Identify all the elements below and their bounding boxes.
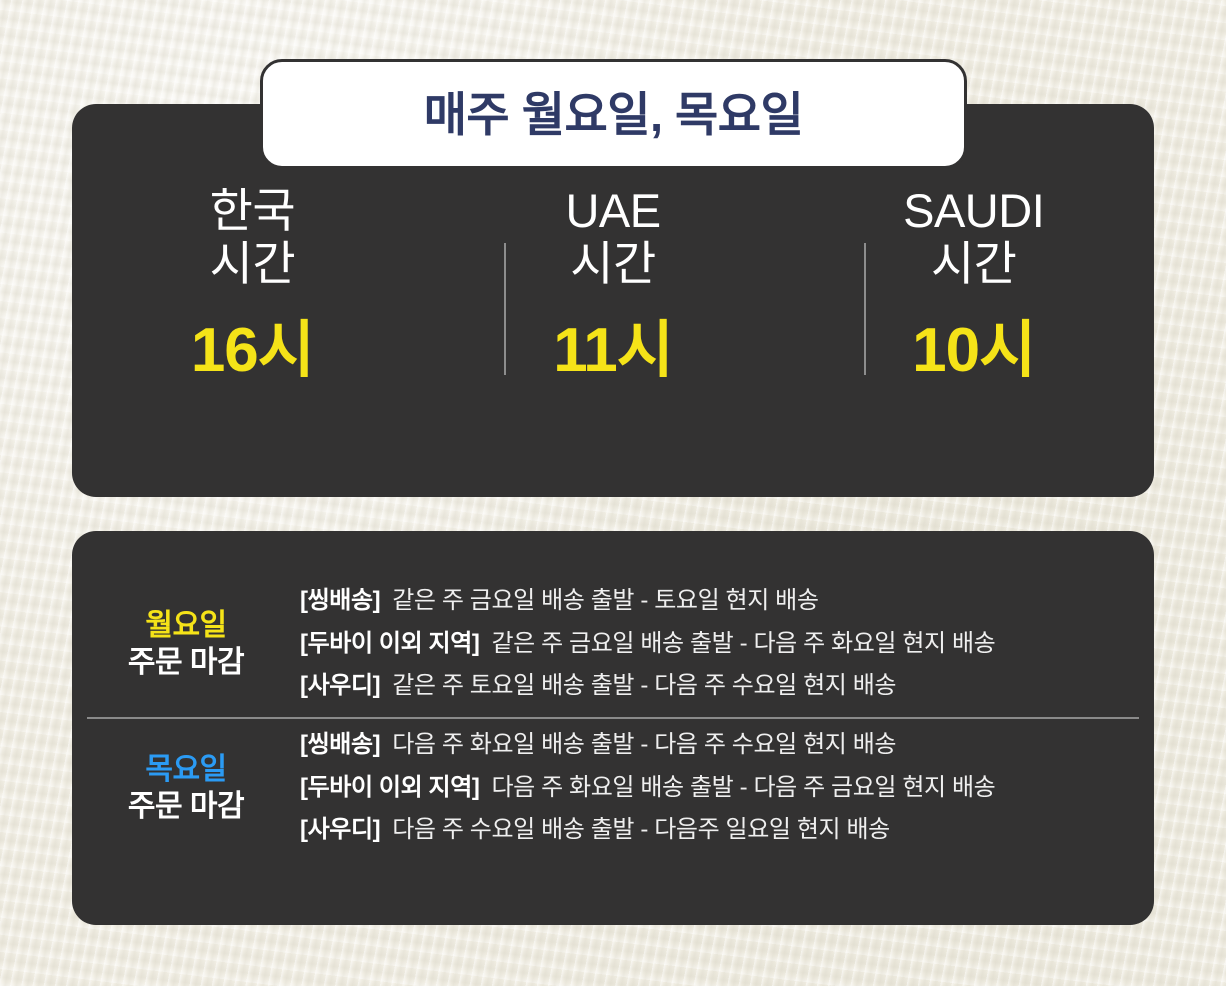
schedule-line-desc: 다음 주 화요일 배송 출발 - 다음 주 금요일 현지 배송 [491,774,995,801]
schedule-row-monday: 월요일 주문 마감 [씽배송]같은 주 금요일 배송 출발 - 토요일 현지 배… [72,577,1154,711]
schedule-line-tag: [씽배송] [300,731,380,758]
timezone-value-korea: 16시 [191,320,314,382]
schedule-line-tag: [씽배송] [300,587,380,614]
schedule-row-divider [87,717,1139,719]
timezone-region-saudi: SAUDI 시간 [903,185,1044,290]
schedule-line: [두바이 이외 지역]다음 주 화요일 배송 출발 - 다음 주 금요일 현지 … [300,767,1154,810]
schedule-card: 월요일 주문 마감 [씽배송]같은 주 금요일 배송 출발 - 토요일 현지 배… [72,531,1154,925]
page-title: 매주 월요일, 목요일 [424,91,804,138]
timezone-region-uae: UAE 시간 [565,185,660,290]
timezone-divider-2 [864,243,866,375]
schedule-line-desc: 다음 주 화요일 배송 출발 - 다음 주 수요일 현지 배송 [392,731,896,758]
timezone-column-uae: UAE 시간 11시 [433,185,794,382]
schedule-line-desc: 같은 주 금요일 배송 출발 - 다음 주 화요일 현지 배송 [491,630,995,657]
schedule-line-tag: [사우디] [300,816,380,843]
timezone-columns: 한국 시간 16시 UAE 시간 11시 SAUDI 시간 10시 [72,185,1154,475]
schedule-day-name-monday: 월요일 [72,608,300,643]
timezone-value-uae: 11시 [553,320,673,382]
schedule-line: [사우디]다음 주 수요일 배송 출발 - 다음주 일요일 현지 배송 [300,809,1154,852]
schedule-day-label-thursday: 목요일 주문 마감 [72,752,300,825]
timezone-value-saudi: 10시 [912,320,1035,382]
schedule-line-tag: [두바이 이외 지역] [300,630,479,657]
infographic-canvas: 매주 월요일, 목요일 한국 시간 16시 UAE 시간 11시 SAUDI 시… [0,0,1226,986]
schedule-day-sub-monday: 주문 마감 [72,645,300,680]
schedule-lines-thursday: [씽배송]다음 주 화요일 배송 출발 - 다음 주 수요일 현지 배송 [두바… [300,724,1154,852]
schedule-line-desc: 같은 주 금요일 배송 출발 - 토요일 현지 배송 [392,587,818,614]
schedule-line-tag: [두바이 이외 지역] [300,774,479,801]
schedule-day-sub-thursday: 주문 마감 [72,789,300,824]
schedule-line-tag: [사우디] [300,672,380,699]
timezone-region-korea: 한국 시간 [210,185,295,290]
schedule-line: [씽배송]다음 주 화요일 배송 출발 - 다음 주 수요일 현지 배송 [300,724,1154,767]
schedule-line: [두바이 이외 지역]같은 주 금요일 배송 출발 - 다음 주 화요일 현지 … [300,623,1154,666]
schedule-day-label-monday: 월요일 주문 마감 [72,608,300,681]
schedule-lines-monday: [씽배송]같은 주 금요일 배송 출발 - 토요일 현지 배송 [두바이 이외 … [300,580,1154,708]
schedule-line-desc: 다음 주 수요일 배송 출발 - 다음주 일요일 현지 배송 [392,816,890,843]
schedule-day-name-thursday: 목요일 [72,752,300,787]
timezone-column-korea: 한국 시간 16시 [72,185,433,382]
schedule-row-thursday: 목요일 주문 마감 [씽배송]다음 주 화요일 배송 출발 - 다음 주 수요일… [72,721,1154,855]
title-pill: 매주 월요일, 목요일 [260,59,967,169]
schedule-line-desc: 같은 주 토요일 배송 출발 - 다음 주 수요일 현지 배송 [392,672,896,699]
timezone-column-saudi: SAUDI 시간 10시 [793,185,1154,382]
timezone-divider-1 [504,243,506,375]
schedule-line: [씽배송]같은 주 금요일 배송 출발 - 토요일 현지 배송 [300,580,1154,623]
schedule-line: [사우디]같은 주 토요일 배송 출발 - 다음 주 수요일 현지 배송 [300,665,1154,708]
